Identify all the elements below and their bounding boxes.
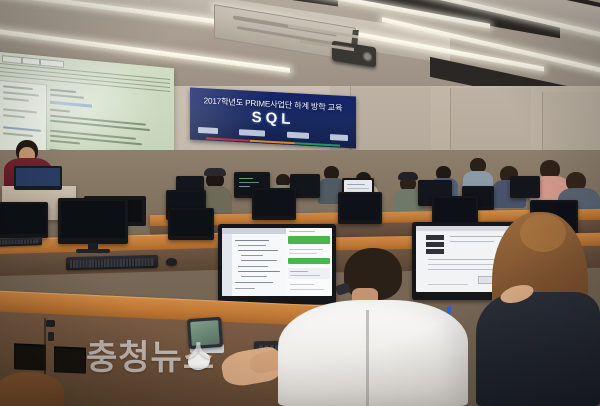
banner-sheen bbox=[190, 88, 356, 149]
monitor-center-screen bbox=[222, 228, 332, 296]
desk-hardware-2 bbox=[48, 332, 54, 341]
cable-cutout bbox=[14, 343, 46, 370]
monitor bbox=[0, 202, 48, 238]
monitor bbox=[338, 192, 382, 224]
monitor bbox=[510, 176, 540, 198]
projector-lens bbox=[362, 50, 373, 63]
mouse[interactable] bbox=[166, 258, 177, 266]
cable-cutout-2 bbox=[54, 346, 86, 373]
monitor-base bbox=[76, 249, 110, 253]
monitor bbox=[58, 198, 128, 244]
monitor bbox=[252, 188, 296, 220]
white-shirt-student-body bbox=[278, 300, 468, 406]
monitor bbox=[168, 208, 214, 240]
event-banner: 2017학년도 PRIME사업단 하계 방학 교육 SQL bbox=[190, 88, 356, 149]
keyboard[interactable] bbox=[0, 237, 42, 247]
podium-monitor-screen bbox=[16, 168, 60, 186]
student-cap bbox=[204, 168, 226, 176]
shirt-seam bbox=[366, 310, 369, 406]
monitor-center bbox=[218, 224, 336, 304]
hair-highlight bbox=[520, 214, 566, 252]
podium-monitor bbox=[14, 166, 62, 190]
desk-hardware bbox=[46, 320, 55, 327]
long-hair-student-body bbox=[476, 292, 600, 406]
keyboard[interactable] bbox=[66, 255, 158, 270]
watermark: 충청뉴스 bbox=[86, 330, 256, 382]
student-cap bbox=[398, 172, 418, 180]
classroom-photo: 2017학년도 PRIME사업단 하계 방학 교육 SQL bbox=[0, 0, 600, 406]
